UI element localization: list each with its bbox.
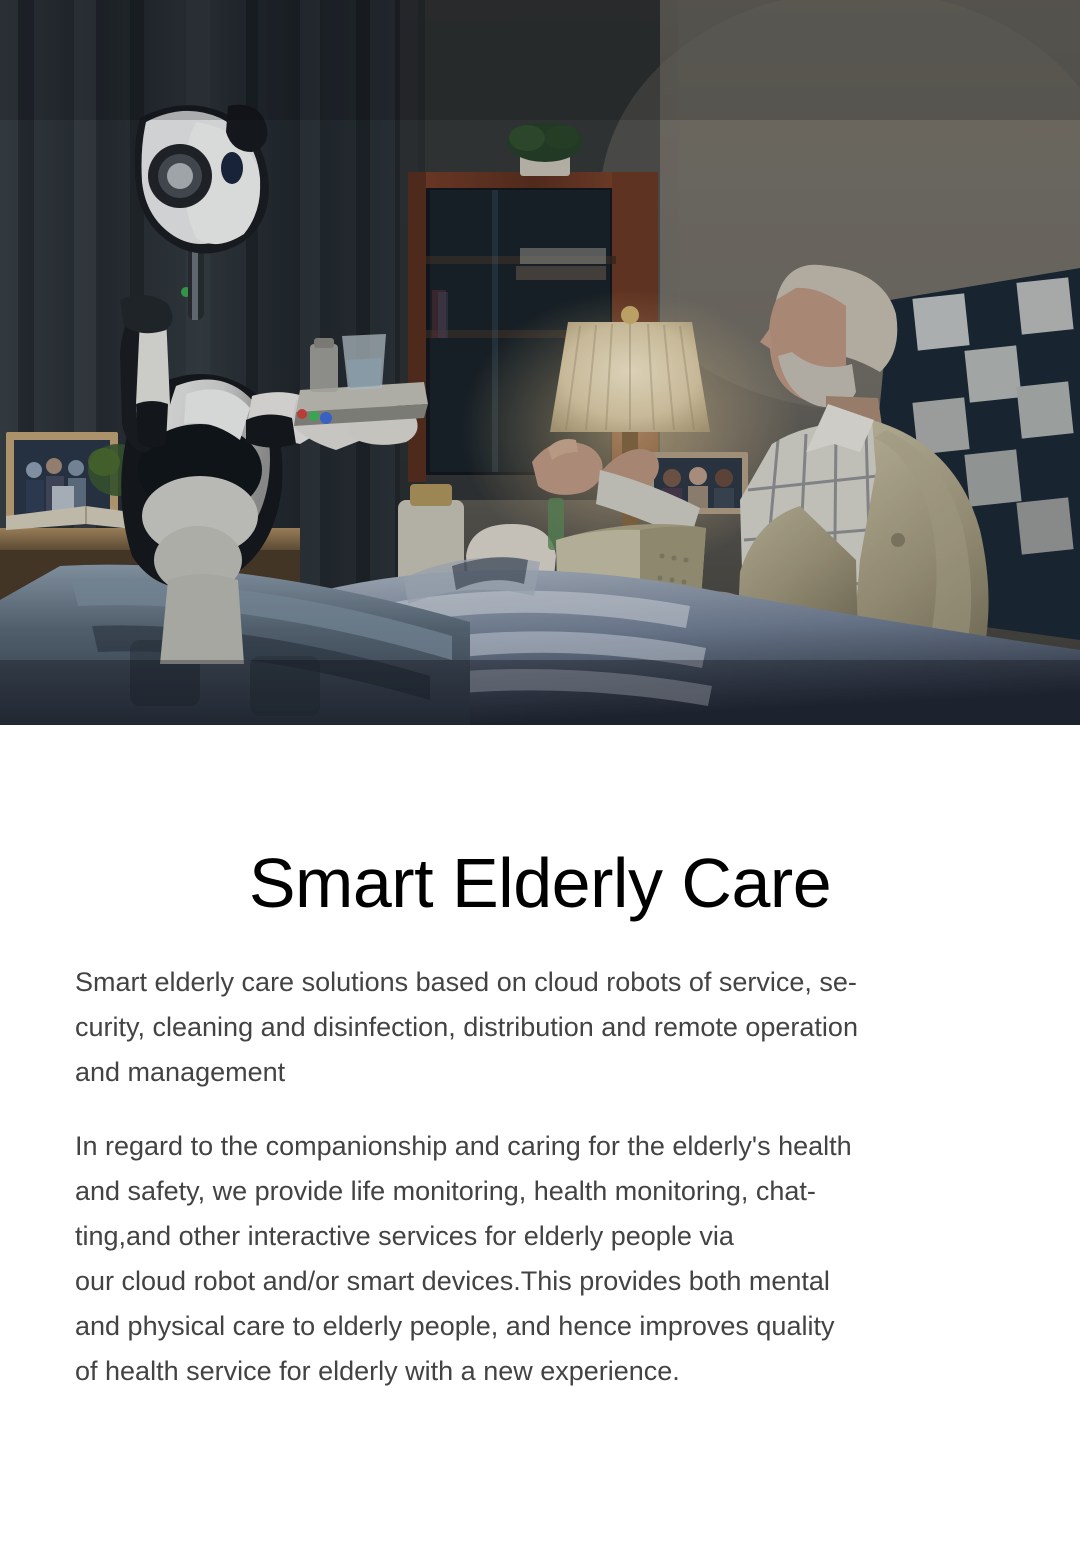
body-copy: Smart elderly care solutions based on cl… <box>75 960 1013 1394</box>
paragraph-line: of health service for elderly with a new… <box>75 1349 1013 1394</box>
page-title: Smart Elderly Care <box>0 847 1080 921</box>
paragraph-line: and safety, we provide life monitoring, … <box>75 1169 1013 1214</box>
paragraph-intro: Smart elderly care solutions based on cl… <box>75 960 1013 1095</box>
paragraph-line: curity, cleaning and disinfection, distr… <box>75 1005 1013 1050</box>
paragraph-line: In regard to the companionship and carin… <box>75 1124 1013 1169</box>
paragraph-details: In regard to the companionship and carin… <box>75 1124 1013 1394</box>
paragraph-line: ting,and other interactive services for … <box>75 1214 1013 1259</box>
hero-image <box>0 0 1080 725</box>
paragraph-line: and management <box>75 1050 1013 1095</box>
paragraph-line: Smart elderly care solutions based on cl… <box>75 960 1013 1005</box>
paragraph-line: and physical care to elderly people, and… <box>75 1304 1013 1349</box>
hero-illustration <box>0 0 1080 725</box>
page-root: Smart Elderly Care Smart elderly care so… <box>0 0 1080 1561</box>
paragraph-line: our cloud robot and/or smart devices.Thi… <box>75 1259 1013 1304</box>
